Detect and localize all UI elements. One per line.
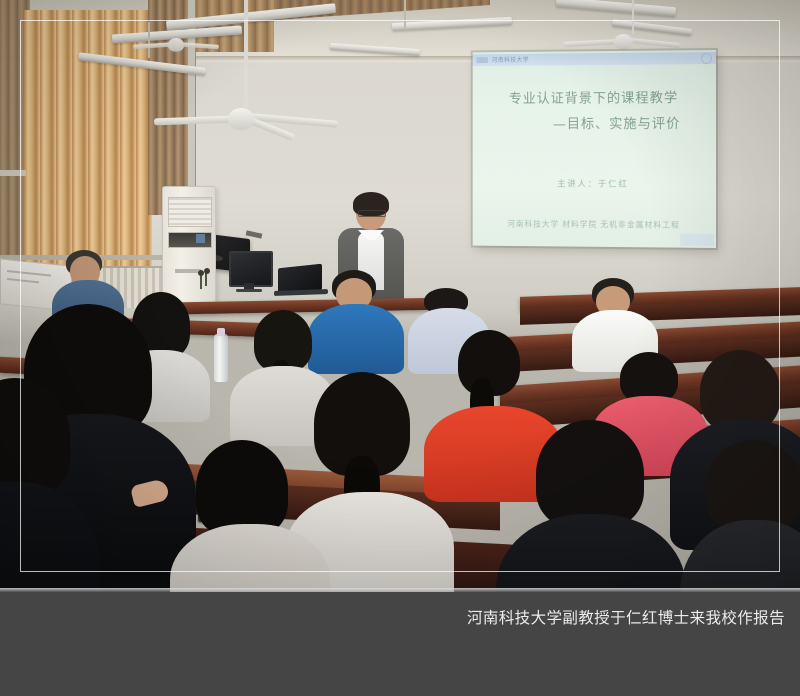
glasses-icon <box>358 210 386 217</box>
slide-header-square <box>476 57 487 63</box>
light-rod <box>404 0 406 30</box>
slide-header-label: 河南科技大学 <box>492 55 529 64</box>
photo-caption: 河南科技大学副教授于仁红博士来我校作报告 <box>467 606 785 628</box>
desk-plant-icon <box>196 268 214 290</box>
presentation-slide: 河南科技大学 专业认证背景下的课程教学 —目标、实施与评价 主讲人：于仁红 河南… <box>473 50 716 248</box>
window-frame-a <box>0 170 26 176</box>
slide-footer-block <box>680 234 714 246</box>
slide-header-band: 河南科技大学 <box>473 52 716 66</box>
slide-affiliation-line: 河南科技大学 材料学院 无机非金属材料工程 <box>473 218 716 231</box>
slide-speaker-line: 主讲人：于仁红 <box>473 177 716 190</box>
slide-title-line1: 专业认证背景下的课程教学 <box>488 86 700 107</box>
news-photo-page: 河南科技大学 专业认证背景下的课程教学 —目标、实施与评价 主讲人：于仁红 河南… <box>0 0 800 696</box>
bottle-cap <box>217 328 225 336</box>
light-rod <box>148 22 150 58</box>
water-bottle-icon <box>214 334 228 382</box>
fan-pole <box>632 0 634 34</box>
monitor-base <box>236 289 262 292</box>
lecture-hall-photo: 河南科技大学 专业认证背景下的课程教学 —目标、实施与评价 主讲人：于仁红 河南… <box>0 0 800 592</box>
desktop-monitor-icon <box>229 251 273 287</box>
slide-title-line2: —目标、实施与评价 <box>526 112 708 132</box>
fan-pole <box>244 0 248 110</box>
slide-corner-logo-icon <box>701 53 712 64</box>
projection-screen: 河南科技大学 专业认证背景下的课程教学 —目标、实施与评价 主讲人：于仁红 河南… <box>473 50 716 248</box>
caption-bar: 河南科技大学副教授于仁红博士来我校作报告 <box>0 592 800 696</box>
